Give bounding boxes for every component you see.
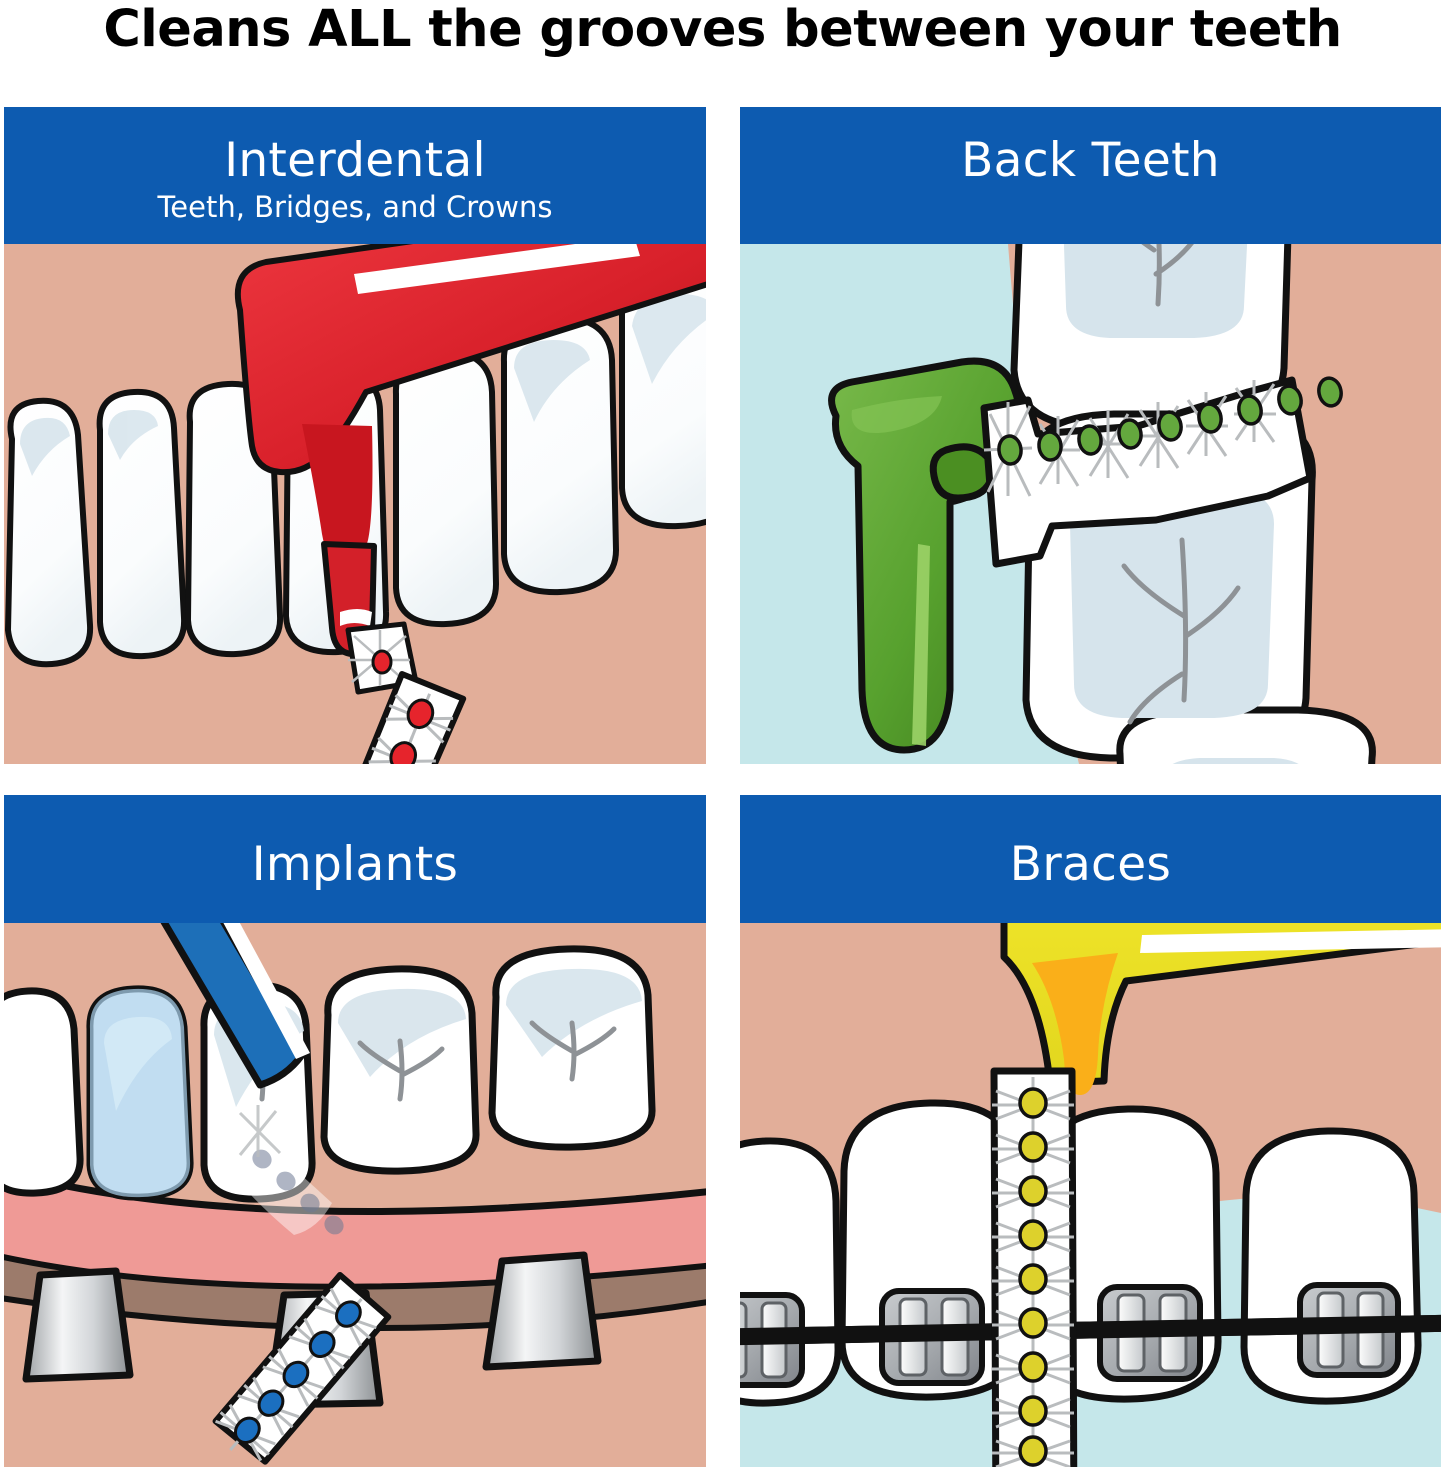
panel-back-teeth: Back Teeth bbox=[740, 107, 1441, 764]
panel-header-interdental: Interdental Teeth, Bridges, and Crowns bbox=[4, 107, 706, 244]
panel-interdental: Interdental Teeth, Bridges, and Crowns bbox=[4, 107, 706, 764]
infographic-root: Cleans ALL the grooves between your teet… bbox=[0, 0, 1445, 1468]
panel-illustration-braces bbox=[740, 923, 1441, 1467]
panel-title: Braces bbox=[740, 839, 1441, 891]
panel-header-back-teeth: Back Teeth bbox=[740, 107, 1441, 244]
implant-post bbox=[26, 1271, 130, 1379]
panel-header-implants: Implants bbox=[4, 795, 706, 923]
panel-illustration-implants bbox=[4, 923, 706, 1467]
panel-subtitle: Teeth, Bridges, and Crowns bbox=[4, 189, 706, 225]
panel-illustration-back-teeth bbox=[740, 244, 1441, 764]
panel-grid: Interdental Teeth, Bridges, and Crowns bbox=[0, 0, 1445, 1468]
panel-title: Implants bbox=[4, 839, 706, 891]
panel-illustration-interdental bbox=[4, 244, 706, 764]
molar-lower bbox=[1120, 710, 1373, 764]
tool-nozzle bbox=[933, 447, 993, 498]
tooth bbox=[396, 352, 496, 624]
panel-title: Interdental bbox=[4, 135, 706, 187]
tooth bbox=[4, 991, 80, 1193]
panel-braces: Braces bbox=[740, 795, 1441, 1467]
brush-braces bbox=[992, 1071, 1074, 1467]
panel-header-braces: Braces bbox=[740, 795, 1441, 923]
panel-title: Back Teeth bbox=[740, 135, 1441, 187]
brush-beads bbox=[1020, 1089, 1046, 1465]
implant-post bbox=[486, 1255, 598, 1367]
panel-implants: Implants bbox=[4, 795, 706, 1467]
